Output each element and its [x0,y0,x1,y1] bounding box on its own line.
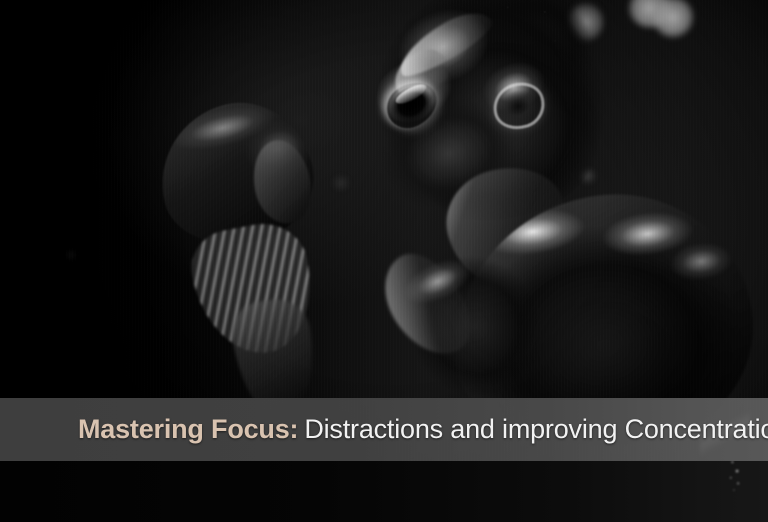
bokeh-light-icon [64,248,78,262]
caption-title-rest: Distractions and improving Concentration [304,414,768,444]
caption-title: Mastering Focus:Distractions and improvi… [78,416,768,443]
bottom-black-band [0,461,768,522]
caption-bar: Mastering Focus:Distractions and improvi… [0,398,768,461]
bokeh-light-icon [652,0,694,38]
hero-banner: Mastering Focus:Distractions and improvi… [0,0,768,522]
bokeh-light-icon [628,0,672,28]
bokeh-light-icon [332,176,350,190]
caption-title-lead: Mastering Focus: [78,414,298,444]
